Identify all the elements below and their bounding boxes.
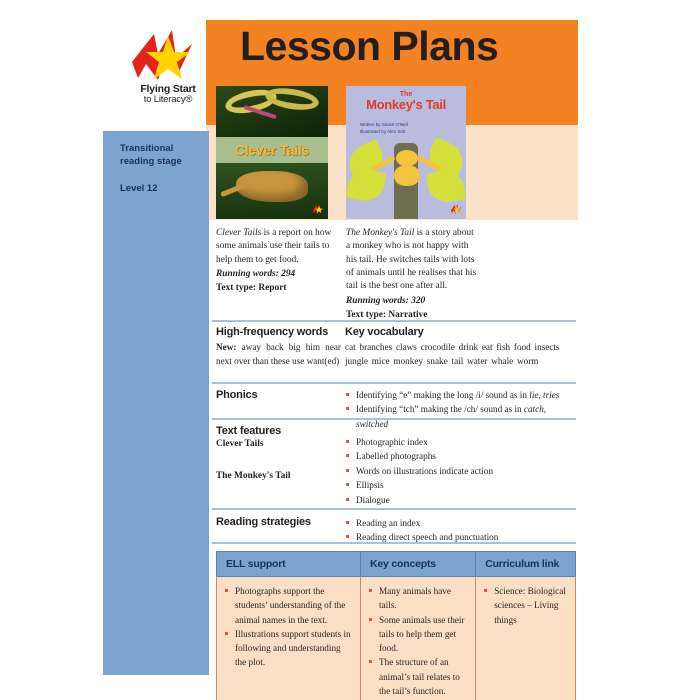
- logo-line-2: to Literacy®: [128, 95, 208, 105]
- table-header-curriculum-link: Curriculum link: [475, 551, 576, 577]
- running-words-label: Running words:: [216, 269, 279, 279]
- list-item: Reading an index: [346, 516, 576, 530]
- phonics-text: Identifying “e” making the long /i/ soun…: [356, 390, 529, 400]
- text-type-line: Text type: Report: [216, 282, 344, 295]
- cover-title-clever-tails: Clever Tails: [235, 142, 309, 158]
- cover-photo-snake: [216, 86, 328, 137]
- list-item: Photographs support the students’ unders…: [225, 584, 352, 627]
- lesson-plan-page: Lesson Plans Flying Start to Literacy® T…: [0, 0, 700, 700]
- cover-title-band: Clever Tails: [216, 137, 328, 164]
- logo-wordmark: Flying Start to Literacy®: [128, 84, 208, 105]
- cover-credits: Written by Sarah O'Neil Illustrated by A…: [360, 122, 408, 136]
- blurb-title: Clever Tails: [216, 228, 261, 238]
- section-heading: Phonics: [216, 389, 336, 401]
- section-heading: High-frequency words: [216, 326, 341, 338]
- cover-illustration-monkey: [346, 137, 466, 219]
- section-divider: [212, 320, 576, 322]
- section-text-features: Text features Clever Tails The Monkey's …: [216, 425, 341, 481]
- key-vocabulary-list: cat branches claws crocodile drink eat f…: [345, 341, 577, 369]
- text-type-label: Text type:: [346, 310, 386, 320]
- list-item: Science: Biological sciences – Living th…: [484, 584, 567, 627]
- level-sidebar: [103, 131, 209, 675]
- section-key-vocabulary: Key vocabulary cat branches claws crocod…: [345, 326, 577, 369]
- cover-credit-author: Written by Sarah O'Neil: [360, 122, 408, 129]
- blurb-title: The Monkey's Tail: [346, 228, 414, 238]
- phonics-text: Identifying “tch” making the /ch/ sound …: [356, 404, 524, 414]
- level-label: Level 12: [120, 183, 210, 194]
- cover-credit-illustrator: Illustrated by Alex Stitt: [360, 129, 408, 136]
- section-phonics: Phonics: [216, 389, 336, 401]
- text-type-value: Narrative: [388, 310, 427, 320]
- table-header-key-concepts: Key concepts: [360, 551, 475, 577]
- list-item: Some animals use their tails to help the…: [369, 613, 467, 656]
- book-blurb-clever-tails: Clever Tails is a report on how some ani…: [216, 227, 344, 296]
- running-words-line: Running words: 294: [216, 268, 344, 281]
- list-item: Identifying “e” making the long /i/ soun…: [346, 388, 576, 402]
- list-item: Illustrations support students in follow…: [225, 627, 352, 670]
- table-header-row: ELL support Key concepts Curriculum link: [216, 551, 576, 577]
- text-features-list-book-1: Photographic index Labelled photographs: [346, 435, 576, 464]
- list-item: Reading direct speech and punctuation: [346, 530, 576, 544]
- list-item: Photographic index: [346, 435, 576, 449]
- reading-stage-label: Transitional reading stage: [120, 143, 210, 169]
- cover-logo-icon: [451, 204, 462, 215]
- section-divider: [212, 508, 576, 510]
- cover-title-monkeys-tail: The Monkey's Tail: [346, 91, 466, 112]
- section-high-frequency-words: High-frequency words New: away back big …: [216, 326, 341, 369]
- running-words-value: 294: [281, 269, 295, 279]
- section-heading: Reading strategies: [216, 516, 341, 528]
- list-item: Ellipsis: [346, 478, 576, 492]
- table-header-ell-support: ELL support: [216, 551, 360, 577]
- section-heading: Text features: [216, 425, 341, 437]
- section-heading: Key vocabulary: [345, 326, 577, 338]
- list-item: Many animals have tails.: [369, 584, 467, 613]
- phonics-example: lie, tries: [529, 390, 559, 400]
- sidebar-text-group: Transitional reading stage Level 12: [120, 143, 210, 194]
- table-cell-key-concepts: Many animals have tails. Some animals us…: [360, 577, 475, 700]
- cover-title-line-2: Monkey's Tail: [346, 98, 466, 112]
- cover-photo-leopard: [216, 163, 328, 219]
- section-reading-strategies: Reading strategies: [216, 516, 341, 528]
- reading-strategies-list: Reading an index Reading direct speech a…: [346, 516, 576, 545]
- text-features-list-book-2: Words on illustrations indicate action E…: [346, 464, 576, 507]
- table-body-row: Photographs support the students’ unders…: [216, 577, 576, 700]
- book-blurb-monkeys-tail: The Monkey's Tail is a story about a mon…: [346, 227, 480, 322]
- list-item: Dialogue: [346, 493, 576, 507]
- support-table: ELL support Key concepts Curriculum link…: [216, 551, 576, 700]
- new-label: New:: [216, 342, 236, 352]
- cover-logo-icon: [313, 204, 324, 215]
- list-item: The structure of an animal’s tail relate…: [369, 655, 467, 698]
- list-item: Identifying “tch” making the /ch/ sound …: [346, 402, 576, 431]
- running-words-line: Running words: 320: [346, 295, 480, 308]
- table-cell-curriculum-link: Science: Biological sciences – Living th…: [475, 577, 576, 700]
- text-features-book-2: The Monkey's Tail: [216, 471, 341, 481]
- text-features-book-1: Clever Tails: [216, 439, 341, 449]
- book-cover-clever-tails: Clever Tails: [216, 86, 328, 219]
- list-item: Words on illustrations indicate action: [346, 464, 576, 478]
- page-title: Lesson Plans: [240, 26, 570, 67]
- list-item: Labelled photographs: [346, 449, 576, 463]
- running-words-label: Running words:: [346, 296, 409, 306]
- section-divider: [212, 382, 576, 384]
- text-type-value: Report: [258, 283, 286, 293]
- phonics-list: Identifying “e” making the long /i/ soun…: [346, 388, 576, 431]
- high-frequency-words-body: New: away back big him near next over th…: [216, 341, 341, 369]
- table-cell-ell-support: Photographs support the students’ unders…: [216, 577, 360, 700]
- text-type-label: Text type:: [216, 283, 256, 293]
- book-cover-monkeys-tail: The Monkey's Tail Written by Sarah O'Nei…: [346, 86, 466, 219]
- running-words-value: 320: [411, 296, 425, 306]
